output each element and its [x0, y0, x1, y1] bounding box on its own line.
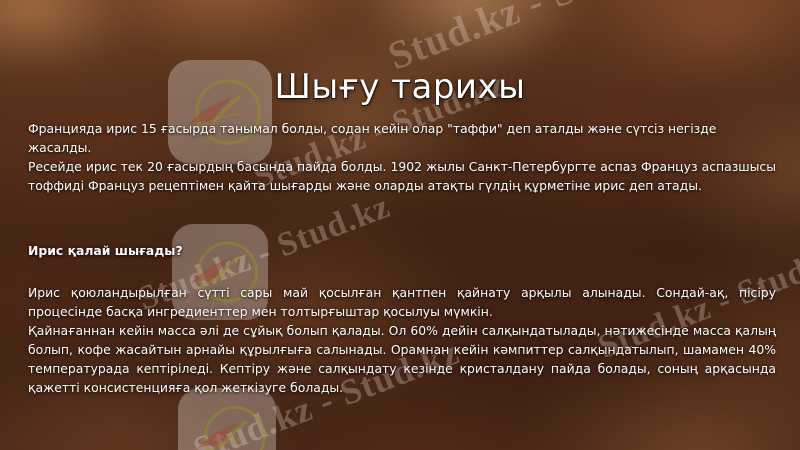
paragraph-production-basics: Ирис қоюландырылған сүтті сары май қосыл…	[28, 283, 776, 321]
paragraph-france-history: Францияда ирис 15 ғасырда танымал болды,…	[28, 119, 776, 157]
paragraph-cooling-drying: Қайнағаннан кейін масса әлі де сұйық бол…	[28, 321, 776, 397]
cooling-text-block: Қайнағаннан кейін масса әлі де сұйық бол…	[28, 321, 776, 397]
presentation-slide: Stud.kz - Stud.kz Stud.kz - Stud.kz Stud…	[0, 0, 800, 450]
paragraph-russia-history: Ресейде ирис тек 20 ғасырдың басында пай…	[28, 157, 776, 195]
section-heading-how-made: Ирис қалай шығады?	[28, 243, 183, 258]
slide-content: Шығу тарихы Францияда ирис 15 ғасырда та…	[0, 0, 800, 450]
production-text-block: Ирис қоюландырылған сүтті сары май қосыл…	[28, 283, 776, 321]
page-title: Шығу тарихы	[0, 67, 800, 107]
intro-text-block: Францияда ирис 15 ғасырда танымал болды,…	[28, 119, 776, 195]
